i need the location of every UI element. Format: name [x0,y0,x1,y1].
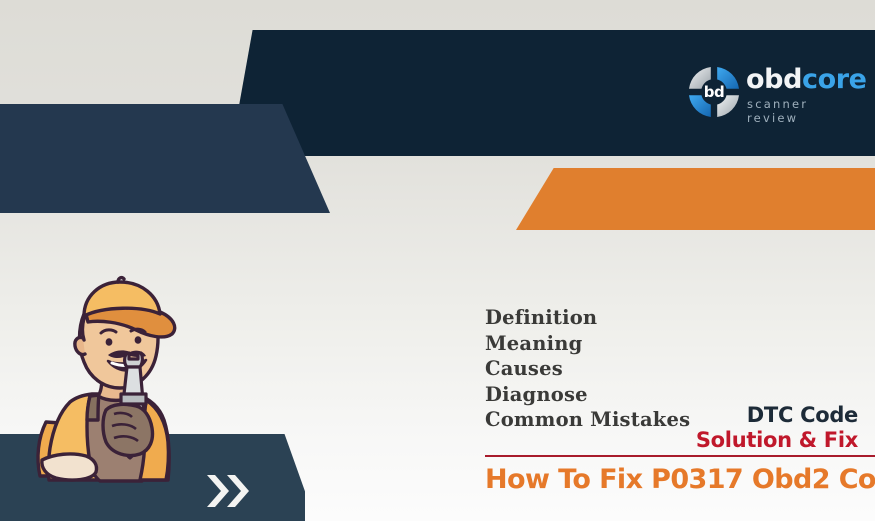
page-title: How To Fix P0317 Obd2 Codes [485,464,875,495]
dtc-code-label: DTC Code [747,403,858,427]
mechanic-mascot-illustration [28,262,218,497]
brand-logo: bd obdcore scanner review [686,62,858,124]
topic-item: Definition [485,305,815,331]
logo-wordmark: obdcore [746,66,867,93]
red-divider-rule [485,455,875,457]
orange-accent-band [516,168,875,230]
banner-graphic: bd obdcore scanner review [0,0,875,521]
topic-item: Meaning [485,331,815,357]
logo-bd-text: bd [686,64,742,120]
navy-accent-band [0,104,330,213]
topic-item: Causes [485,356,815,382]
logo-tagline: scanner review [747,97,858,125]
logo-word-obd: obd [746,64,802,95]
logo-word-core: core [802,64,867,95]
solution-fix-label: Solution & Fix [696,428,858,452]
